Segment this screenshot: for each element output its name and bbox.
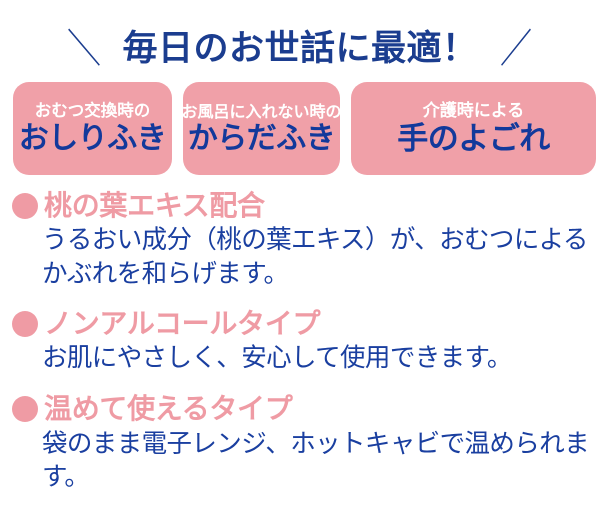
feature-title: ノンアルコールタイプ: [44, 308, 320, 340]
product-feature-panel: ＼ 毎日のお世話に最適！ ／ おむつ交換時の おしりふき お風呂に入れない時の …: [0, 0, 600, 520]
feature-item-peach-extract: 桃の葉エキス配合 うるおい成分（桃の葉エキス）が、おむつによるかぶれを和らげます…: [0, 190, 600, 292]
page-title: 毎日のお世話に最適！: [122, 32, 477, 67]
use-case-card-subtitle: お風呂に入れない時の: [182, 104, 342, 120]
use-case-card-subtitle: 介護時による: [423, 103, 525, 120]
use-case-card-title: 手のよごれ: [397, 124, 550, 155]
filled-circle-bullet-icon: [12, 193, 38, 219]
feature-heading-row: ノンアルコールタイプ: [0, 308, 600, 340]
use-case-card-subtitle: おむつ交換時の: [35, 103, 151, 120]
slash-right-icon: ／: [500, 29, 532, 69]
feature-heading-row: 桃の葉エキス配合: [0, 190, 600, 222]
use-case-card-list: おむつ交換時の おしりふき お風呂に入れない時の からだふき 介護時による 手の…: [13, 82, 595, 175]
filled-circle-bullet-icon: [12, 311, 38, 337]
feature-item-warmable: 温めて使えるタイプ 袋のまま電子レンジ、ホットキャビで温められます。: [0, 393, 600, 495]
use-case-card-title: おしりふき: [19, 124, 167, 154]
header-banner: ＼ 毎日のお世話に最適！ ／: [0, 22, 600, 76]
feature-heading-row: 温めて使えるタイプ: [0, 393, 600, 425]
filled-circle-bullet-icon: [12, 396, 38, 422]
use-case-card-karadafuki: お風呂に入れない時の からだふき: [183, 82, 340, 175]
feature-item-non-alcohol: ノンアルコールタイプ お肌にやさしく、安心して使用できます。: [0, 308, 600, 376]
slash-left-icon: ＼: [67, 29, 101, 69]
feature-title: 温めて使えるタイプ: [44, 393, 292, 425]
feature-title: 桃の葉エキス配合: [44, 190, 265, 222]
feature-description: 袋のまま電子レンジ、ホットキャビで温められます。: [0, 428, 600, 495]
feature-description: お肌にやさしく、安心して使用できます。: [0, 342, 600, 376]
feature-list: 桃の葉エキス配合 うるおい成分（桃の葉エキス）が、おむつによるかぶれを和らげます…: [0, 190, 600, 501]
use-case-card-tenoyogore: 介護時による 手のよごれ: [351, 82, 596, 175]
use-case-card-oshirifuki: おむつ交換時の おしりふき: [13, 82, 172, 175]
use-case-card-title: からだふき: [188, 124, 336, 154]
feature-description: うるおい成分（桃の葉エキス）が、おむつによるかぶれを和らげます。: [0, 224, 600, 291]
